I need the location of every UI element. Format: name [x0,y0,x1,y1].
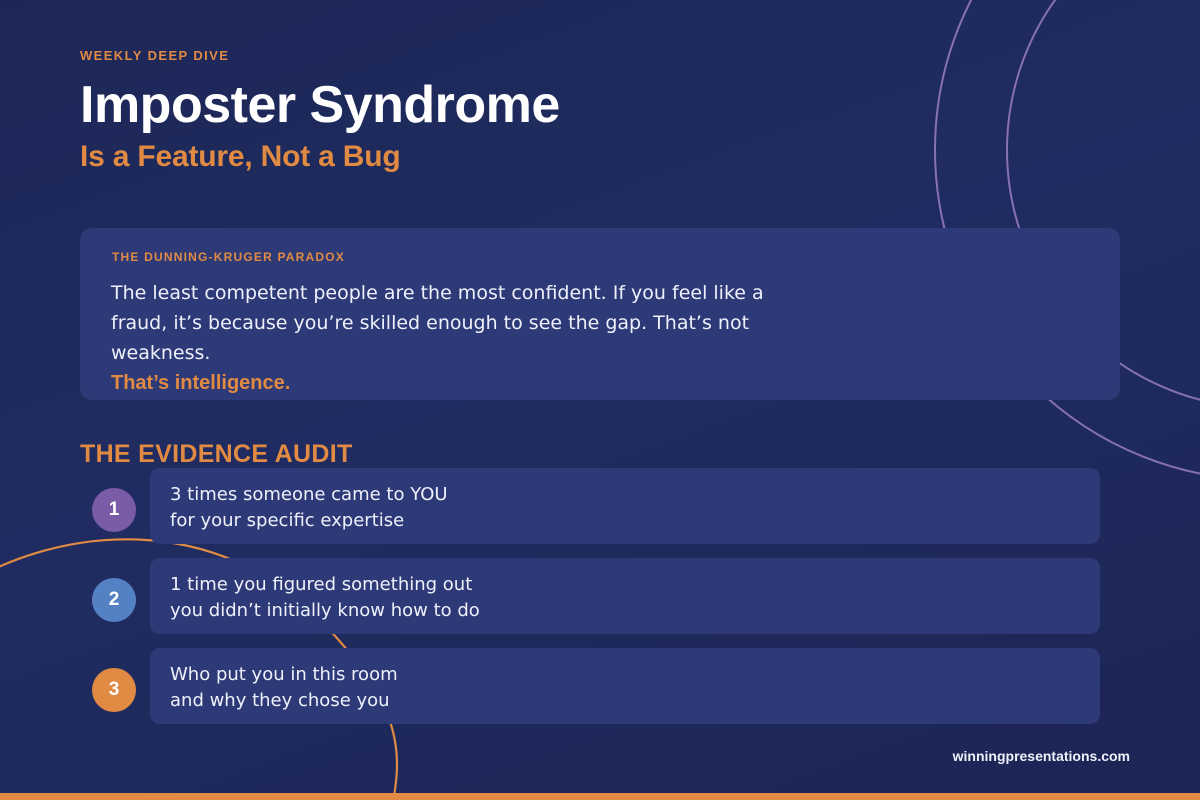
page-title: Imposter Syndrome [80,78,560,133]
list-item-badge: 3 [92,668,136,712]
list-item-badge: 2 [92,578,136,622]
quote-emphasis-text: That’s intelligence. [111,368,811,398]
list-item-card[interactable]: Who put you in this room and why they ch… [150,648,1100,724]
quote-body-text: The least competent people are the most … [111,282,764,364]
quote-card-body: The least competent people are the most … [111,278,811,398]
list-item-text: 1 time you figured something out you did… [170,572,480,624]
section-heading: THE EVIDENCE AUDIT [80,440,353,469]
quote-card-label: THE DUNNING-KRUGER PARADOX [112,250,345,264]
slide-canvas: WEEKLY DEEP DIVE Imposter Syndrome Is a … [0,0,1200,800]
page-subtitle: Is a Feature, Not a Bug [80,140,400,174]
list-item-badge: 1 [92,488,136,532]
list-item-card[interactable]: 3 times someone came to YOU for your spe… [150,468,1100,544]
list-item-text: 3 times someone came to YOU for your spe… [170,482,448,534]
eyebrow-label: WEEKLY DEEP DIVE [80,48,229,63]
footer-url[interactable]: winningpresentations.com [953,748,1130,764]
list-item-card[interactable]: 1 time you figured something out you did… [150,558,1100,634]
list-item-text: Who put you in this room and why they ch… [170,662,398,714]
quote-card: THE DUNNING-KRUGER PARADOX The least com… [80,228,1120,400]
bottom-accent-bar [0,793,1200,800]
